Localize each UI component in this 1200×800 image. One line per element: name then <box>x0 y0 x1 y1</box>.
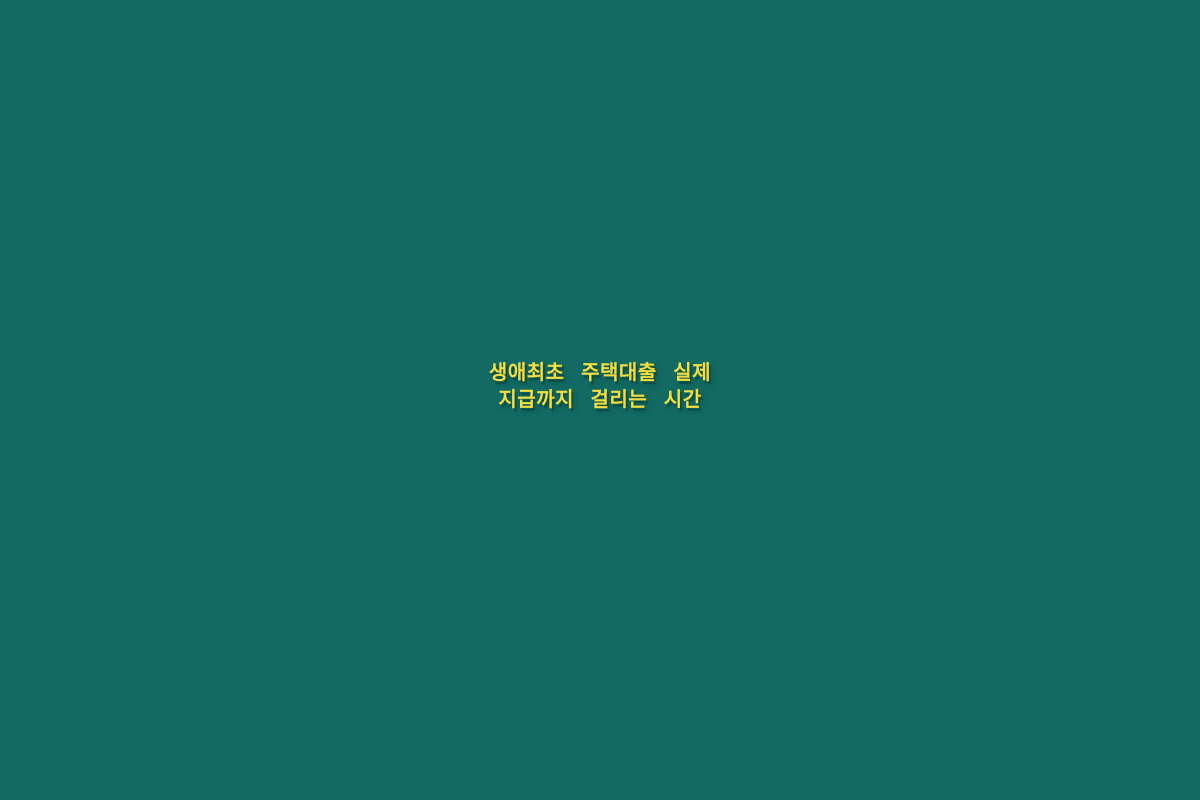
headline-line-2: 지급까지 걸리는 시간 <box>0 387 1200 414</box>
headline-text: 생애최초 주택대출 실제 지급까지 걸리는 시간 <box>0 360 1200 440</box>
headline-line-1: 생애최초 주택대출 실제 <box>0 360 1200 387</box>
banner-canvas: 생애최초 주택대출 실제 지급까지 걸리는 시간 <box>0 0 1200 800</box>
